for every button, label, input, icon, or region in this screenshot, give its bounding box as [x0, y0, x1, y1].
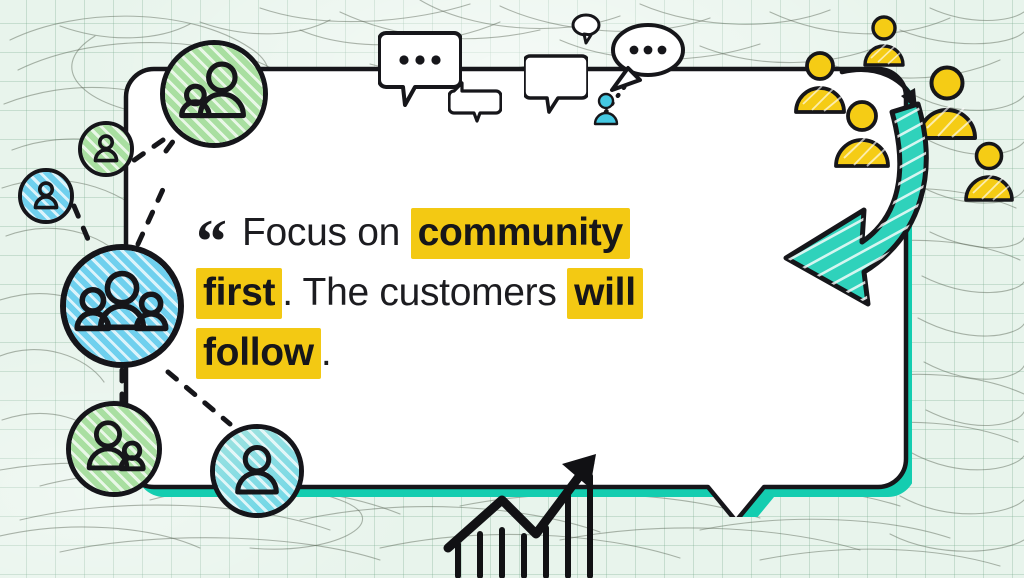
node-group-blue-big[interactable]	[60, 244, 184, 368]
bubble-rect-blank	[524, 52, 588, 114]
node-group-green-top[interactable]	[160, 40, 268, 148]
bubble-small-tag	[448, 79, 502, 123]
three-people-icon	[66, 250, 178, 362]
two-people-icon	[71, 406, 157, 492]
node-group-green-bottom[interactable]	[66, 401, 162, 497]
curved-arrow-left-icon	[772, 60, 952, 360]
slide-canvas: “ Focus on community first. The customer…	[0, 0, 1024, 578]
single-person-icon	[215, 429, 299, 513]
single-person-icon	[82, 125, 130, 173]
node-person-teal[interactable]	[210, 424, 304, 518]
person-cyan-listener	[592, 92, 620, 126]
node-person-green-small[interactable]	[78, 121, 134, 177]
growth-arrow-chart	[440, 438, 640, 578]
two-people-icon	[165, 45, 263, 143]
person-yellow-right-2	[962, 140, 1016, 204]
bubble-tiny-oval	[570, 12, 602, 46]
single-person-icon	[22, 172, 70, 220]
node-person-blue-small[interactable]	[18, 168, 74, 224]
